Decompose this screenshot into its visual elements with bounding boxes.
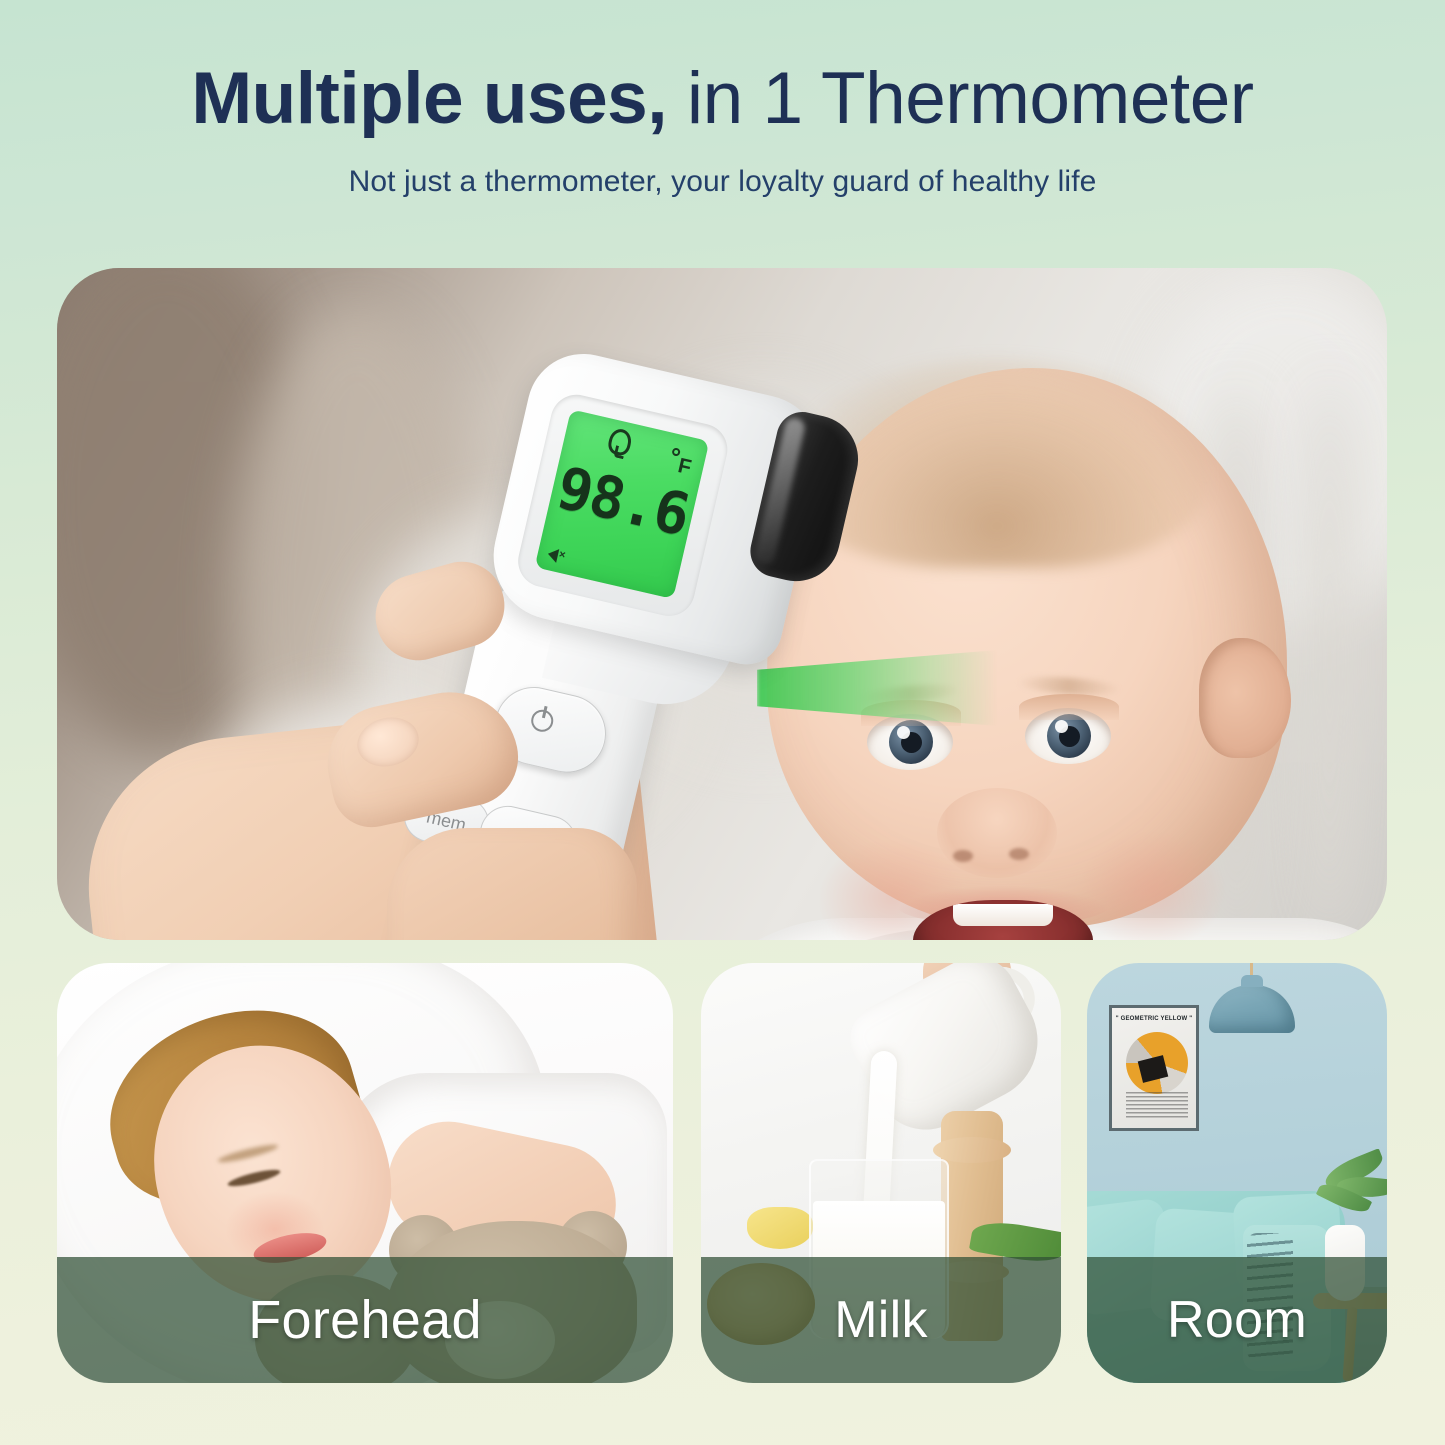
header: Multiple uses, in 1 Thermometer Not just… <box>0 0 1445 199</box>
temperature-reading: 98.6 <box>546 452 700 550</box>
poster-caption-lines <box>1126 1092 1188 1118</box>
page-title: Multiple uses, in 1 Thermometer <box>0 62 1445 135</box>
muted-speaker-icon: × <box>547 544 566 561</box>
baby-eye <box>867 714 953 770</box>
baby-nose <box>937 788 1057 878</box>
power-button-icon <box>529 708 555 734</box>
baby-nostril <box>953 850 973 862</box>
card-label-forehead: Forehead <box>57 1257 673 1383</box>
hand-knuckles <box>387 828 637 940</box>
hero-image: F 98.6 × mem × <box>57 268 1387 940</box>
forehead-mode-icon <box>606 427 633 457</box>
headline-light: in 1 Thermometer <box>667 58 1254 139</box>
baby-ear <box>1199 638 1291 758</box>
baby-eye <box>1025 708 1111 764</box>
card-milk[interactable]: Milk <box>701 963 1061 1383</box>
baby-nostril <box>1009 848 1029 860</box>
yellow-tulip <box>747 1207 813 1249</box>
baby-cheek <box>1077 830 1227 940</box>
card-forehead[interactable]: Forehead <box>57 963 673 1383</box>
page-subtitle: Not just a thermometer, your loyalty gua… <box>0 165 1445 199</box>
card-room[interactable]: " GEOMETRIC YELLOW " Room <box>1087 963 1387 1383</box>
poster-title: " GEOMETRIC YELLOW " <box>1112 1016 1196 1022</box>
poster-artwork <box>1126 1032 1188 1094</box>
unit-label: F <box>676 455 693 478</box>
use-case-cards: Forehead Milk " GEOMETRIC YELLOW " <box>57 963 1387 1383</box>
headline-bold: Multiple uses, <box>191 58 667 139</box>
card-label-milk: Milk <box>701 1257 1061 1383</box>
wall-poster: " GEOMETRIC YELLOW " <box>1109 1005 1199 1131</box>
card-label-room: Room <box>1087 1257 1387 1383</box>
